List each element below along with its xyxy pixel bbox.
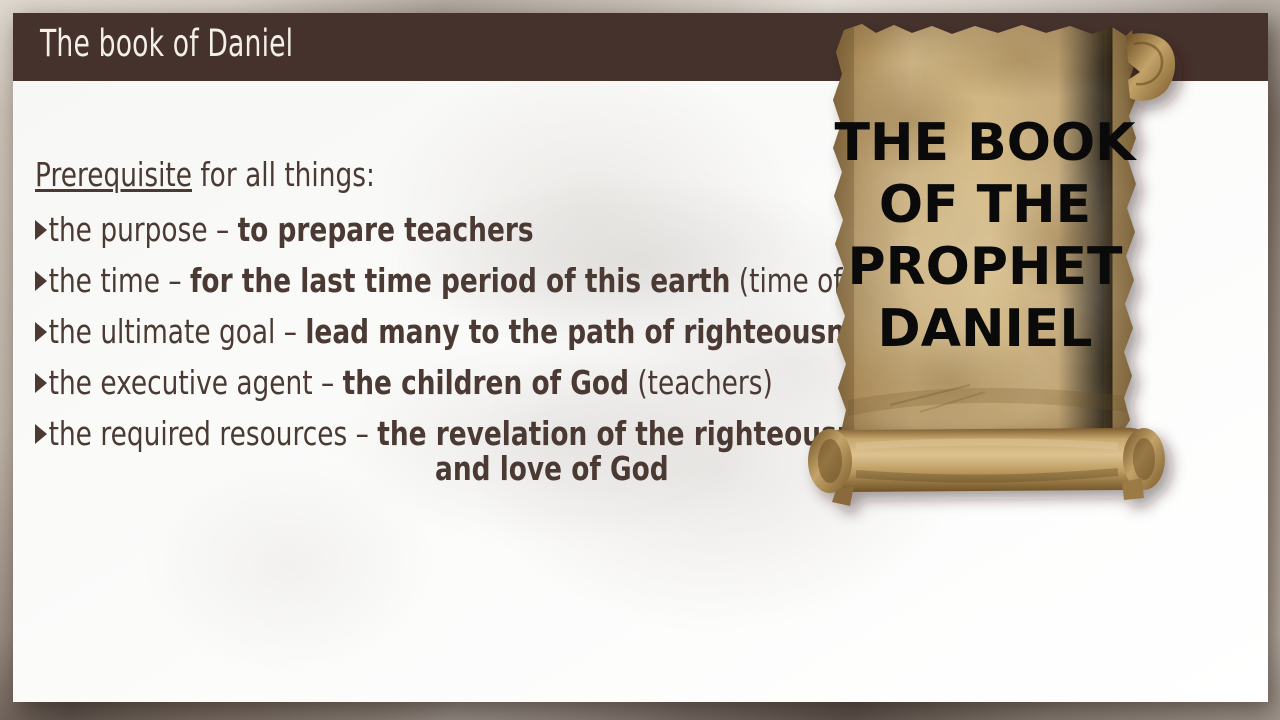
bullet-item-purpose: the purpose – to prepare teachers [35,210,683,249]
bullet-lead: the required resources – [49,414,378,453]
triangle-right-icon [35,271,47,291]
bullet-lead: the ultimate goal – [49,312,306,351]
scroll-title-line-1: THE BOOK [835,113,1138,173]
bullet-emphasis: the children of God [343,363,629,402]
bullet-tail: (teachers) [629,363,773,402]
triangle-right-icon [35,373,47,393]
scroll-illustration: THE BOOK OF THE PROPHET DANIEL [770,0,1220,560]
bullet-lead: the executive agent – [49,363,343,402]
bullet-lead: the time – [49,261,190,300]
prerequisite-heading: Prerequisite for all things: [35,155,683,194]
bullet-item-required-resources: the required resources – the revelation … [35,414,683,453]
scroll-title-line-3: PROPHET [848,237,1124,297]
scroll-title-line-4: DANIEL [878,299,1093,359]
bullet-item-executive-agent: the executive agent – the children of Go… [35,363,683,402]
triangle-right-icon [35,322,47,342]
triangle-right-icon [35,424,47,444]
bullet-emphasis: for the last time period of this earth [190,261,730,300]
bullet-lead: the purpose – [49,210,238,249]
bullet-content: Prerequisite for all things: the purpose… [35,155,845,488]
bullet-emphasis: to prepare teachers [238,210,534,249]
scroll-title-line-2: OF THE [879,175,1091,235]
bullet-item-ultimate-goal: the ultimate goal – lead many to the pat… [35,312,683,351]
triangle-right-icon [35,220,47,240]
bullet-continuation-line: and love of God [435,449,763,488]
prerequisite-rest: for all things: [192,155,375,194]
prerequisite-label: Prerequisite [35,155,192,194]
slide-title: The book of Daniel [40,22,293,65]
presentation-backdrop: The book of Daniel Prerequisite for all … [0,0,1280,720]
bullet-item-time: the time – for the last time period of t… [35,261,683,300]
